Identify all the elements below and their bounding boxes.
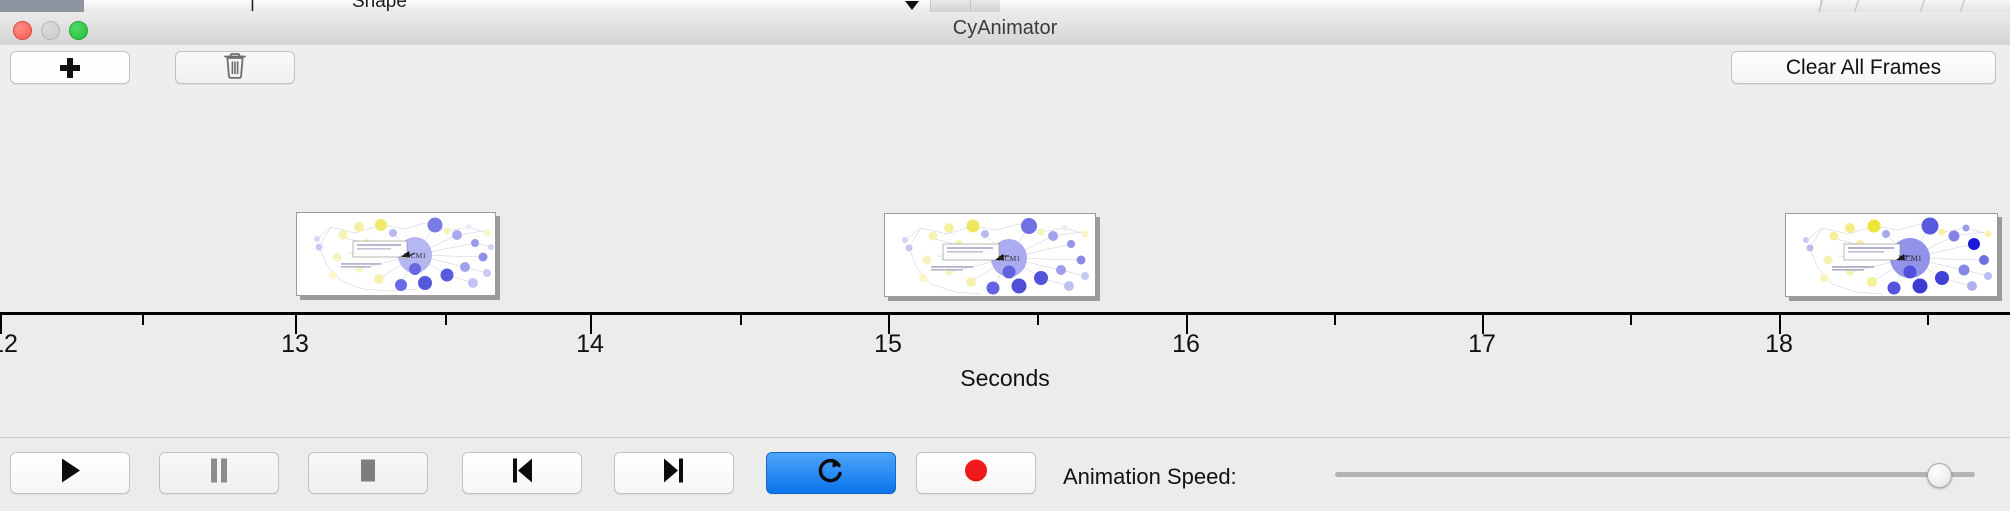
background-window-strip: Shape | bbox=[0, 0, 2010, 12]
timeline-frame-thumbnail[interactable]: MCM1 bbox=[296, 212, 496, 296]
record-icon bbox=[963, 458, 989, 489]
window-title: CyAnimator bbox=[0, 12, 2010, 45]
background-sidebar bbox=[0, 0, 84, 12]
axis-tick-minor bbox=[1334, 315, 1336, 325]
stop-icon bbox=[357, 457, 379, 490]
animation-speed-slider[interactable] bbox=[1335, 472, 1975, 477]
axis-tick-minor bbox=[445, 315, 447, 325]
axis-tick-label: 12 bbox=[0, 330, 18, 359]
axis-tick-label: 14 bbox=[576, 330, 604, 359]
cyanimator-window: Shape | CyAnimator Clear All Frames bbox=[0, 0, 2010, 510]
axis-tick-minor bbox=[1927, 315, 1929, 325]
stop-button[interactable] bbox=[308, 452, 428, 494]
pause-button[interactable] bbox=[159, 452, 279, 494]
frame-center-node-label: MCM1 bbox=[404, 251, 426, 260]
record-button[interactable] bbox=[916, 452, 1036, 494]
axis-tick-label: 15 bbox=[874, 330, 902, 359]
animation-speed-slider-knob[interactable] bbox=[1927, 463, 1952, 488]
axis-tick-minor bbox=[740, 315, 742, 325]
timeline-axis bbox=[0, 312, 2010, 315]
timeline-frame-thumbnail[interactable]: MCM1 bbox=[1785, 213, 1998, 297]
frame-center-node-label: MCM1 bbox=[998, 254, 1020, 263]
clear-all-frames-button[interactable]: Clear All Frames bbox=[1731, 51, 1996, 84]
play-icon bbox=[58, 457, 82, 490]
axis-tick-label: 16 bbox=[1172, 330, 1200, 359]
toolbar: Clear All Frames bbox=[0, 45, 2010, 91]
axis-tick-label: 13 bbox=[281, 330, 309, 359]
playback-controls-bar: Animation Speed: bbox=[0, 437, 2010, 511]
loop-icon bbox=[817, 456, 845, 491]
frame-center-node-label: MCM1 bbox=[1898, 254, 1922, 263]
background-sort-arrow-icon bbox=[905, 1, 919, 10]
timeline-frame-thumbnail[interactable]: MCM1 bbox=[884, 213, 1096, 297]
axis-tick-minor bbox=[142, 315, 144, 325]
plus-icon bbox=[59, 57, 81, 79]
timeline-panel[interactable]: MCM1 bbox=[0, 90, 2010, 430]
play-button[interactable] bbox=[10, 452, 130, 494]
axis-tick-label: 18 bbox=[1765, 330, 1793, 359]
skip-start-icon bbox=[509, 457, 535, 490]
loop-button[interactable] bbox=[766, 452, 896, 494]
pause-icon bbox=[208, 457, 230, 490]
axis-tick-minor bbox=[1630, 315, 1632, 325]
add-frame-button[interactable] bbox=[10, 51, 130, 84]
animation-speed-label: Animation Speed: bbox=[1063, 464, 1237, 490]
axis-title: Seconds bbox=[0, 365, 2010, 392]
trash-icon bbox=[222, 50, 248, 85]
delete-frame-button[interactable] bbox=[175, 51, 295, 84]
axis-tick-label: 17 bbox=[1468, 330, 1496, 359]
skip-end-icon bbox=[661, 457, 687, 490]
skip-to-start-button[interactable] bbox=[462, 452, 582, 494]
skip-to-end-button[interactable] bbox=[614, 452, 734, 494]
background-column-label: Shape bbox=[352, 0, 407, 12]
axis-tick-minor bbox=[1037, 315, 1039, 325]
clear-all-frames-label: Clear All Frames bbox=[1732, 52, 1995, 83]
title-bar[interactable]: CyAnimator bbox=[0, 12, 2010, 46]
